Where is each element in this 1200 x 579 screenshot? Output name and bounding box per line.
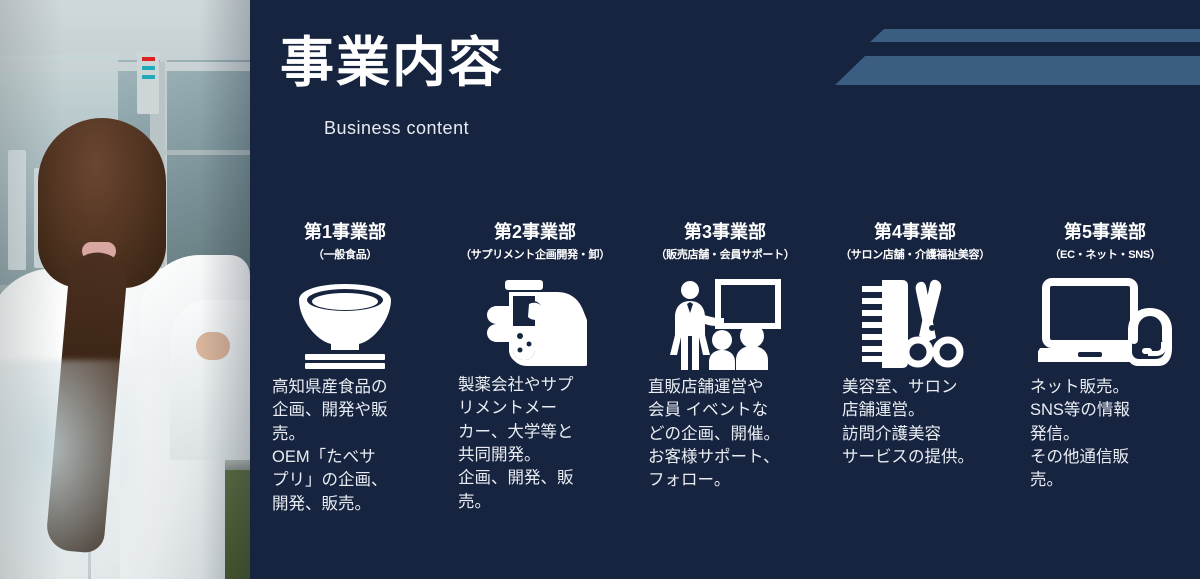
slide-business-content: 事業内容 Business content 第1事業部 （一般食品） 高知県産食… [0,0,1200,579]
division-body-1: 高知県産食品の 企画、開発や販 売。 OEM「たべサ プリ」の企画、 開発、販売… [256,376,434,517]
division-column-3: 第3事業部 （販売店舗・会員サポート） 直販店舗運営や [630,222,820,516]
division-body-4: 美容室、サロン 店舗運営。 訪問介護美容 サービスの提供。 [826,376,1004,470]
accent-bar-thin-icon [870,29,1200,42]
laboratory-technician-photo [0,0,250,579]
division-column-2: 第2事業部 （サプリメント企画開発・卸） [440,222,630,516]
division-title-4: 第4事業部 [874,222,956,243]
division-body-2: 製薬会社やサプ リメントメー カー、大学等と 共同開発。 企画、開発、販 売。 [446,374,624,515]
division-column-1: 第1事業部 （一般食品） 高知県産食品の 企画、開発や販 売。 OEM「たべサ … [250,222,440,516]
page-subtitle: Business content [324,118,469,139]
rice-bowl-chopsticks-icon [289,278,401,370]
content-panel: 事業内容 Business content 第1事業部 （一般食品） 高知県産食… [250,0,1200,579]
division-title-3: 第3事業部 [684,222,766,243]
presenter-whiteboard-audience-icon [666,278,784,370]
page-title: 事業内容 [280,36,504,90]
division-subtitle-5: （EC・ネット・SNS） [1049,246,1160,262]
division-title-1: 第1事業部 [304,222,386,243]
division-subtitle-3: （販売店舗・会員サポート） [655,246,794,262]
laptop-headset-support-icon [1038,278,1172,370]
division-body-5: ネット販売。 SNS等の情報 発信。 その他通信販 売。 [1016,376,1194,493]
division-subtitle-4: （サロン店舗・介護福祉美容） [840,246,990,262]
division-columns: 第1事業部 （一般食品） 高知県産食品の 企画、開発や販 売。 OEM「たべサ … [250,222,1200,516]
division-subtitle-1: （一般食品） [313,246,377,262]
comb-scissors-icon [860,278,970,370]
division-column-4: 第4事業部 （サロン店舗・介護福祉美容） [820,222,1010,516]
photo-vignette [0,0,250,579]
hand-test-tube-icon [483,276,587,368]
division-column-5: 第5事業部 （EC・ネット・SNS） [1010,222,1200,516]
division-subtitle-2: （サプリメント企画開発・卸） [460,246,610,262]
division-body-3: 直販店舗運営や 会員 イベントな どの企画、開催。 お客様サポート、 フォロー。 [636,376,814,493]
division-title-2: 第2事業部 [494,222,576,243]
accent-bar-thick-icon [835,56,1200,85]
division-title-5: 第5事業部 [1064,222,1146,243]
